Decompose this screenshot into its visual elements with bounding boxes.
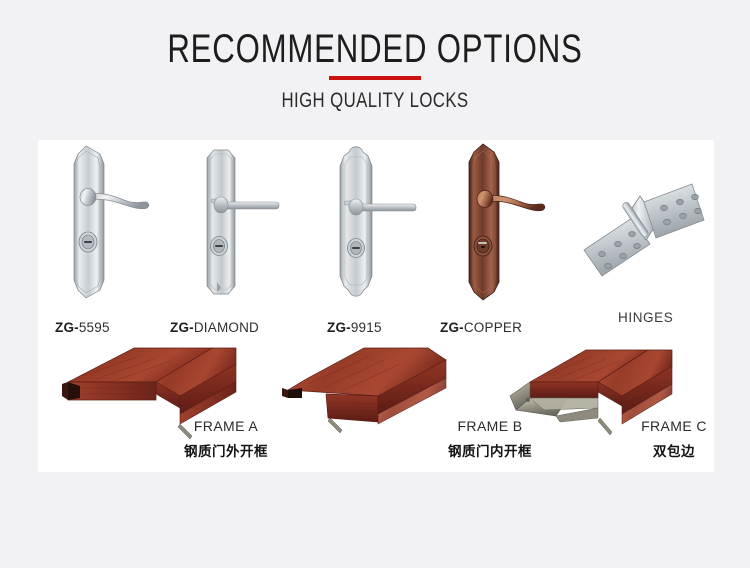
frame-label-en: FRAME B: [430, 418, 550, 434]
label-prefix: ZG-: [170, 320, 194, 335]
label-suffix: 9915: [351, 320, 382, 335]
product-lock-zg-copper[interactable]: [443, 142, 563, 302]
product-label-zg-copper: ZG-COPPER: [440, 320, 522, 335]
product-label-hinges: HINGES: [618, 310, 673, 325]
frame-label-cn: 钢质门内开框: [430, 440, 550, 460]
lock-labels-row: ZG-5595 ZG-DIAMOND ZG-9915 ZG-COPPER HIN…: [38, 308, 714, 338]
product-lock-zg-5595[interactable]: [48, 142, 168, 302]
product-label-frame-a: FRAME A 钢质门外开框: [166, 418, 286, 460]
label-suffix: 5595: [79, 320, 110, 335]
title-divider: [329, 76, 421, 80]
label-prefix: ZG-: [55, 320, 79, 335]
product-label-zg-diamond: ZG-DIAMOND: [170, 320, 259, 335]
door-lock-handle-icon: [48, 142, 168, 302]
product-lock-zg-9915[interactable]: [316, 142, 436, 302]
frames-row: FRAME A 钢质门外开框 FRAME B 钢质门内开框 FRAME C 双包…: [38, 338, 714, 472]
frame-label-cn: 双包边: [626, 440, 722, 460]
label-suffix: DIAMOND: [194, 320, 259, 335]
locks-row: [38, 140, 714, 330]
door-lock-handle-icon: [181, 142, 301, 302]
page-header: RECOMMENDED OPTIONS HIGH QUALITY LOCKS: [0, 0, 750, 113]
door-lock-handle-icon: [316, 142, 436, 302]
door-lock-handle-icon: [443, 142, 563, 302]
label-prefix: ZG-: [440, 320, 464, 335]
frame-label-cn: 钢质门外开框: [166, 440, 286, 460]
product-hinges[interactable]: [566, 176, 716, 286]
frame-label-en: FRAME A: [166, 418, 286, 434]
product-label-frame-c: FRAME C 双包边: [626, 418, 722, 460]
product-label-frame-b: FRAME B 钢质门内开框: [430, 418, 550, 460]
label-prefix: ZG-: [327, 320, 351, 335]
products-panel: ZG-5595 ZG-DIAMOND ZG-9915 ZG-COPPER HIN…: [38, 140, 714, 472]
product-lock-zg-diamond[interactable]: [181, 142, 301, 302]
label-suffix: COPPER: [464, 320, 522, 335]
product-options-page: RECOMMENDED OPTIONS HIGH QUALITY LOCKS: [0, 0, 750, 568]
door-hinge-icon: [566, 176, 716, 286]
frame-label-en: FRAME C: [626, 418, 722, 434]
product-label-zg-9915: ZG-9915: [327, 320, 382, 335]
product-label-zg-5595: ZG-5595: [55, 320, 110, 335]
page-title: RECOMMENDED OPTIONS: [83, 28, 668, 70]
page-subtitle: HIGH QUALITY LOCKS: [75, 89, 675, 113]
